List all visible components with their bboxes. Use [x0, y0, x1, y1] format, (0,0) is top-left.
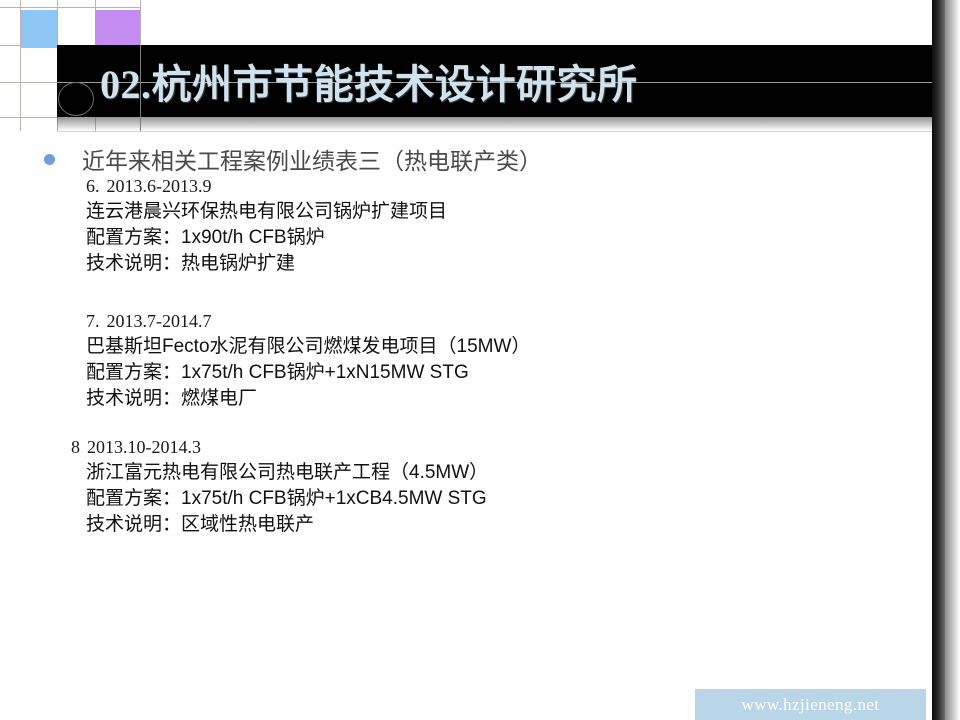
grid-line-horizontal [0, 7, 140, 8]
entry-technical-note: 技术说明：热电锅炉扩建 [86, 251, 447, 277]
project-entry: 6.2013.6-2013.9 连云港晨兴环保热电有限公司锅炉扩建项目 配置方案… [86, 176, 447, 277]
grid-line-vertical [140, 0, 141, 46]
bullet-heading-row: 近年来相关工程案例业绩表三（热电联产类） [44, 142, 542, 176]
bullet-heading-text: 近年来相关工程案例业绩表三（热电联产类） [82, 142, 542, 176]
entry-header: 6.2013.6-2013.9 [86, 176, 447, 197]
entry-header: 82013.10-2014.3 [71, 437, 488, 458]
entry-date-range: 2013.10-2014.3 [87, 437, 201, 457]
entry-technical-note: 技术说明：区域性热电联产 [86, 512, 488, 538]
entry-project-name: 浙江富元热电有限公司热电联产工程（4.5MW） [86, 460, 488, 486]
project-entry: 82013.10-2014.3 浙江富元热电有限公司热电联产工程（4.5MW） … [71, 437, 488, 538]
footer-website: www.hzjieneng.net [695, 689, 926, 720]
entry-project-name: 巴基斯坦Fecto水泥有限公司燃煤发电项目（15MW） [86, 334, 530, 360]
page-title: 02.杭州市节能技术设计研究所 [100, 49, 638, 113]
entry-date-range: 2013.6-2013.9 [107, 176, 212, 196]
slide-canvas: 02.杭州市节能技术设计研究所 近年来相关工程案例业绩表三（热电联产类） 6.2… [0, 0, 960, 720]
deco-square-blue [21, 10, 57, 48]
entry-number: 6. [86, 176, 100, 196]
title-band-shadow [57, 117, 938, 131]
entry-configuration: 配置方案：1x75t/h CFB锅炉+1xN15MW STG [86, 360, 530, 386]
grid-line-horizontal [0, 82, 58, 83]
right-edge-band [932, 0, 945, 720]
right-edge-band-fade [945, 0, 960, 720]
entry-configuration: 配置方案：1x90t/h CFB锅炉 [86, 225, 447, 251]
entry-number: 8 [71, 437, 80, 457]
deco-square-purple [95, 10, 140, 48]
grid-line-horizontal [0, 117, 58, 118]
bullet-dot-icon [44, 154, 55, 165]
entry-project-name: 连云港晨兴环保热电有限公司锅炉扩建项目 [86, 199, 447, 225]
entry-technical-note: 技术说明：燃煤电厂 [86, 386, 530, 412]
deco-circle [58, 82, 94, 116]
grid-line-horizontal-overlay [57, 131, 938, 132]
entry-number: 7. [86, 311, 100, 331]
entry-header: 7.2013.7-2014.7 [86, 311, 530, 332]
entry-configuration: 配置方案：1x75t/h CFB锅炉+1xCB4.5MW STG [86, 486, 488, 512]
project-entry: 7.2013.7-2014.7 巴基斯坦Fecto水泥有限公司燃煤发电项目（15… [86, 311, 530, 412]
entry-date-range: 2013.7-2014.7 [107, 311, 212, 331]
